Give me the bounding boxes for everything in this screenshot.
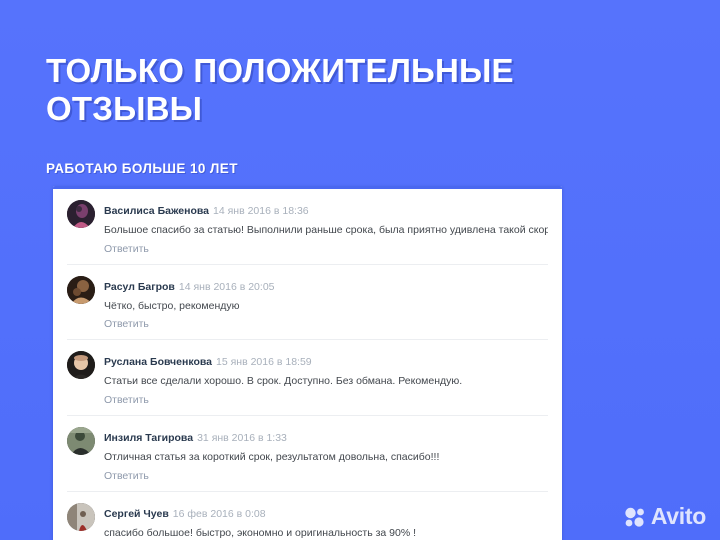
headline-line-2: ОТЗЫВЫ	[46, 90, 202, 127]
review-item: Инзиля Тагирова31 янв 2016 в 1:33 Отличн…	[67, 416, 548, 492]
subtitle: РАБОТАЮ БОЛЬШЕ 10 ЛЕТ	[46, 161, 238, 176]
avatar	[67, 200, 95, 228]
reviews-card: Василиса Баженова14 янв 2016 в 18:36 Бол…	[53, 186, 562, 540]
review-author: Расул Багров	[104, 281, 175, 293]
review-item: Расул Багров14 янв 2016 в 20:05 Чётко, б…	[67, 265, 548, 341]
review-body: Руслана Бовченкова15 янв 2016 в 18:59 Ст…	[104, 350, 548, 406]
headline-line-1: ТОЛЬКО ПОЛОЖИТЕЛЬНЫЕ	[46, 52, 514, 89]
review-timestamp: 31 янв 2016 в 1:33	[197, 432, 287, 444]
avatar	[67, 276, 95, 304]
review-text: Отличная статья за короткий срок, резуль…	[104, 451, 548, 465]
review-text: Статьи все сделали хорошо. В срок. Досту…	[104, 375, 548, 389]
reviews-list: Василиса Баженова14 янв 2016 в 18:36 Бол…	[53, 189, 562, 540]
avito-watermark: Avito	[624, 505, 706, 528]
avito-dots-logo-icon	[624, 507, 646, 527]
review-item: Сергей Чуев16 фев 2016 в 0:08 спасибо бо…	[67, 492, 548, 540]
review-item: Руслана Бовченкова15 янв 2016 в 18:59 Ст…	[67, 340, 548, 416]
review-header: Василиса Баженова14 янв 2016 в 18:36	[104, 200, 548, 220]
reply-link[interactable]: Ответить	[104, 470, 548, 482]
review-header: Руслана Бовченкова15 янв 2016 в 18:59	[104, 351, 548, 371]
avito-wordmark: Avito	[651, 505, 706, 528]
review-header: Сергей Чуев16 фев 2016 в 0:08	[104, 503, 548, 523]
review-author: Инзиля Тагирова	[104, 432, 193, 444]
review-body: Сергей Чуев16 фев 2016 в 0:08 спасибо бо…	[104, 502, 548, 540]
review-text: Чётко, быстро, рекомендую	[104, 300, 548, 314]
reply-link[interactable]: Ответить	[104, 243, 548, 255]
avatar	[67, 427, 95, 455]
review-text: Большое спасибо за статью! Выполнили ран…	[104, 224, 548, 238]
review-body: Расул Багров14 янв 2016 в 20:05 Чётко, б…	[104, 275, 548, 331]
review-body: Инзиля Тагирова31 янв 2016 в 1:33 Отличн…	[104, 426, 548, 482]
reply-link[interactable]: Ответить	[104, 318, 548, 330]
review-timestamp: 15 янв 2016 в 18:59	[216, 356, 312, 368]
review-author: Руслана Бовченкова	[104, 356, 212, 368]
review-body: Василиса Баженова14 янв 2016 в 18:36 Бол…	[104, 199, 548, 255]
review-header: Инзиля Тагирова31 янв 2016 в 1:33	[104, 427, 548, 447]
review-timestamp: 14 янв 2016 в 18:36	[213, 205, 309, 217]
page-title: ТОЛЬКО ПОЛОЖИТЕЛЬНЫЕ ОТЗЫВЫ	[46, 52, 566, 129]
review-author: Сергей Чуев	[104, 508, 169, 520]
avatar	[67, 351, 95, 379]
review-header: Расул Багров14 янв 2016 в 20:05	[104, 276, 548, 296]
avatar	[67, 503, 95, 531]
headline-block: ТОЛЬКО ПОЛОЖИТЕЛЬНЫЕ ОТЗЫВЫ	[46, 52, 566, 129]
review-item: Василиса Баженова14 янв 2016 в 18:36 Бол…	[67, 189, 548, 265]
reply-link[interactable]: Ответить	[104, 394, 548, 406]
review-author: Василиса Баженова	[104, 205, 209, 217]
poster-root: ТОЛЬКО ПОЛОЖИТЕЛЬНЫЕ ОТЗЫВЫ РАБОТАЮ БОЛЬ…	[0, 0, 720, 540]
review-text: спасибо большое! быстро, экономно и ориг…	[104, 527, 548, 540]
review-timestamp: 16 фев 2016 в 0:08	[173, 508, 266, 520]
review-timestamp: 14 янв 2016 в 20:05	[179, 281, 275, 293]
